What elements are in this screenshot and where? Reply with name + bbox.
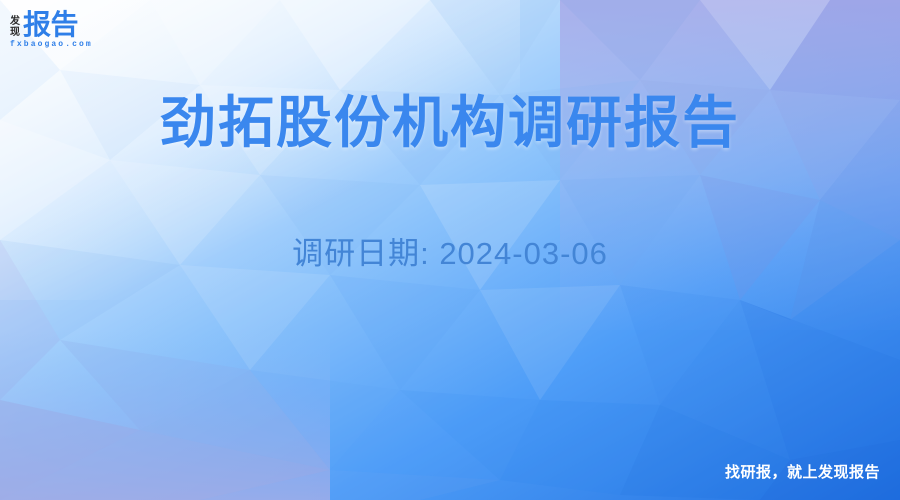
brand-logo[interactable]: 发 现 报告 fxbaogao.com [10,9,170,55]
logo-char-xian: 现 [10,27,20,38]
logo-url-text: fxbaogao.com [10,40,170,50]
logo-stacked-chars: 发 现 [10,16,20,39]
logo-main-text: 报告 [23,11,78,39]
logo-wordmark: 发 现 报告 [10,9,170,39]
report-cover-slide: 发 现 报告 fxbaogao.com 劲拓股份机构调研报告 调研日期: 202… [0,0,900,500]
survey-date-subtitle: 调研日期: 2024-03-06 [0,233,900,275]
page-title: 劲拓股份机构调研报告 [0,88,900,158]
footer-tagline: 找研报，就上发现报告 [725,463,880,483]
logo-char-fa: 发 [10,16,20,27]
